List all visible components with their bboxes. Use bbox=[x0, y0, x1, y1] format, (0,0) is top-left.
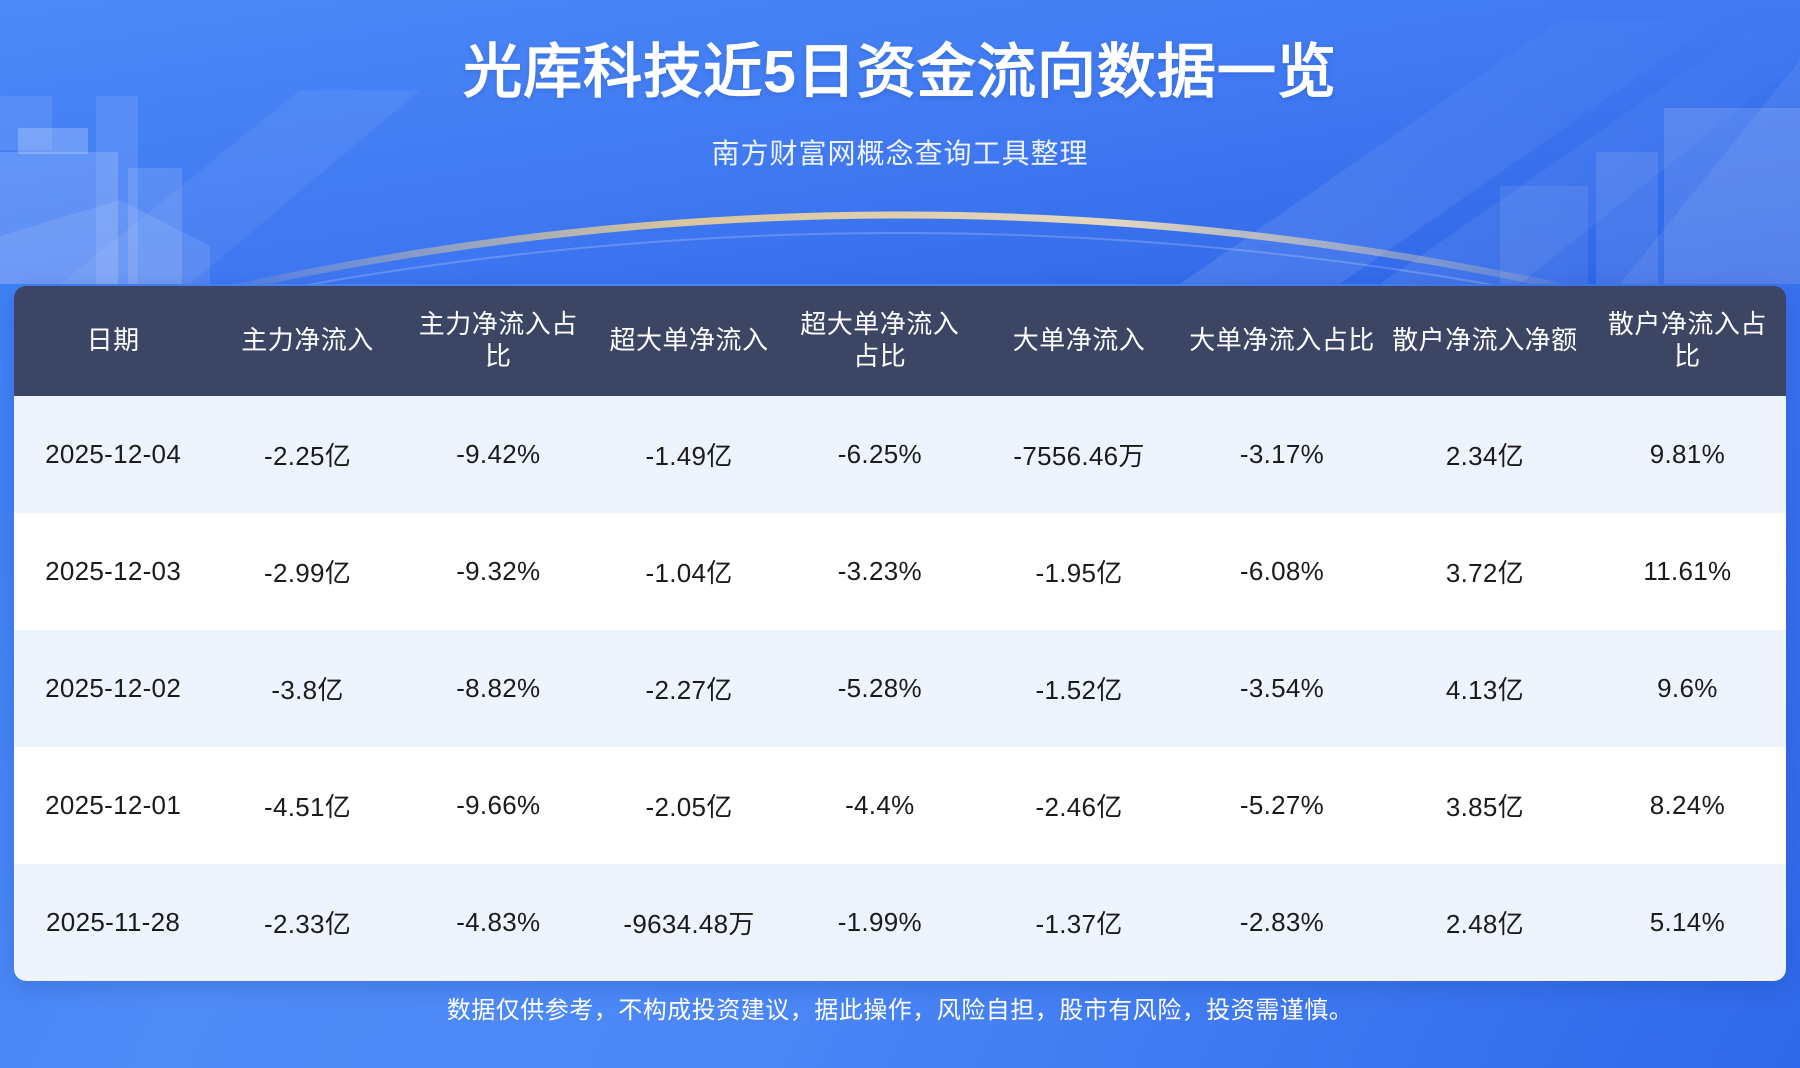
cell-main-net-inflow: -3.8亿 bbox=[212, 630, 403, 747]
cell-retail-net-inflow-ratio: 11.61% bbox=[1589, 513, 1786, 630]
table-row[interactable]: 2025-11-28 -2.33亿 -4.83% -9634.48万 -1.99… bbox=[14, 864, 1786, 981]
footer-disclaimer: 数据仅供参考，不构成投资建议，据此操作，风险自担，股市有风险，投资需谨慎。 bbox=[0, 990, 1800, 1025]
cell-retail-net-inflow-amount: 4.13亿 bbox=[1381, 630, 1589, 747]
cell-super-large-net-inflow: -1.04亿 bbox=[594, 513, 785, 630]
page-title: 光库科技近5日资金流向数据一览 bbox=[0, 38, 1800, 108]
cell-large-net-inflow: -1.37亿 bbox=[975, 864, 1183, 981]
cell-main-net-inflow: -2.99亿 bbox=[212, 513, 403, 630]
cell-large-net-inflow-ratio: -6.08% bbox=[1183, 513, 1381, 630]
cell-retail-net-inflow-ratio: 9.81% bbox=[1589, 396, 1786, 513]
column-header-super-large-net-inflow-ratio[interactable]: 超大单净流入占比 bbox=[784, 286, 975, 396]
table-row[interactable]: 2025-12-02 -3.8亿 -8.82% -2.27亿 -5.28% -1… bbox=[14, 630, 1786, 747]
column-header-large-net-inflow[interactable]: 大单净流入 bbox=[975, 286, 1183, 396]
column-header-main-net-inflow-ratio[interactable]: 主力净流入占比 bbox=[403, 286, 594, 396]
cell-retail-net-inflow-amount: 2.34亿 bbox=[1381, 396, 1589, 513]
cell-large-net-inflow-ratio: -3.17% bbox=[1183, 396, 1381, 513]
cell-retail-net-inflow-amount: 3.85亿 bbox=[1381, 747, 1589, 864]
cell-date: 2025-12-03 bbox=[14, 513, 212, 630]
page-subtitle: 南方财富网概念查询工具整理 bbox=[0, 132, 1800, 172]
table-row[interactable]: 2025-12-03 -2.99亿 -9.32% -1.04亿 -3.23% -… bbox=[14, 513, 1786, 630]
cell-retail-net-inflow-amount: 3.72亿 bbox=[1381, 513, 1589, 630]
cell-super-large-net-inflow-ratio: -3.23% bbox=[784, 513, 975, 630]
cell-date: 2025-12-04 bbox=[14, 396, 212, 513]
cell-retail-net-inflow-ratio: 8.24% bbox=[1589, 747, 1786, 864]
cell-main-net-inflow-ratio: -4.83% bbox=[403, 864, 594, 981]
cell-retail-net-inflow-ratio: 5.14% bbox=[1589, 864, 1786, 981]
cell-large-net-inflow: -1.95亿 bbox=[975, 513, 1183, 630]
column-header-retail-net-inflow-ratio[interactable]: 散户净流入占比 bbox=[1589, 286, 1786, 396]
column-header-retail-net-inflow-amount[interactable]: 散户净流入净额 bbox=[1381, 286, 1589, 396]
cell-super-large-net-inflow-ratio: -4.4% bbox=[784, 747, 975, 864]
cell-large-net-inflow-ratio: -2.83% bbox=[1183, 864, 1381, 981]
cell-super-large-net-inflow-ratio: -1.99% bbox=[784, 864, 975, 981]
cell-main-net-inflow: -2.25亿 bbox=[212, 396, 403, 513]
cell-large-net-inflow-ratio: -5.27% bbox=[1183, 747, 1381, 864]
cell-retail-net-inflow-ratio: 9.6% bbox=[1589, 630, 1786, 747]
cell-main-net-inflow-ratio: -8.82% bbox=[403, 630, 594, 747]
table-row[interactable]: 2025-12-01 -4.51亿 -9.66% -2.05亿 -4.4% -2… bbox=[14, 747, 1786, 864]
cell-date: 2025-11-28 bbox=[14, 864, 212, 981]
column-header-main-net-inflow[interactable]: 主力净流入 bbox=[212, 286, 403, 396]
cell-main-net-inflow-ratio: -9.32% bbox=[403, 513, 594, 630]
fund-flow-table: 日期 主力净流入 主力净流入占比 超大单净流入 超大单净流入占比 大单净流入 大… bbox=[14, 286, 1786, 981]
table-row[interactable]: 2025-12-04 -2.25亿 -9.42% -1.49亿 -6.25% -… bbox=[14, 396, 1786, 513]
table-header: 日期 主力净流入 主力净流入占比 超大单净流入 超大单净流入占比 大单净流入 大… bbox=[14, 286, 1786, 396]
cell-large-net-inflow: -7556.46万 bbox=[975, 396, 1183, 513]
column-header-date[interactable]: 日期 bbox=[14, 286, 212, 396]
cell-date: 2025-12-01 bbox=[14, 747, 212, 864]
cell-super-large-net-inflow: -9634.48万 bbox=[594, 864, 785, 981]
cell-large-net-inflow-ratio: -3.54% bbox=[1183, 630, 1381, 747]
data-table-card: 日期 主力净流入 主力净流入占比 超大单净流入 超大单净流入占比 大单净流入 大… bbox=[14, 286, 1786, 981]
table-body: 2025-12-04 -2.25亿 -9.42% -1.49亿 -6.25% -… bbox=[14, 396, 1786, 981]
column-header-large-net-inflow-ratio[interactable]: 大单净流入占比 bbox=[1183, 286, 1381, 396]
cell-main-net-inflow: -4.51亿 bbox=[212, 747, 403, 864]
table-header-row: 日期 主力净流入 主力净流入占比 超大单净流入 超大单净流入占比 大单净流入 大… bbox=[14, 286, 1786, 396]
page-root: 光库科技近5日资金流向数据一览 南方财富网概念查询工具整理 南方财富网 Sout… bbox=[0, 0, 1800, 1068]
cell-super-large-net-inflow-ratio: -5.28% bbox=[784, 630, 975, 747]
cell-super-large-net-inflow: -2.05亿 bbox=[594, 747, 785, 864]
cell-main-net-inflow-ratio: -9.42% bbox=[403, 396, 594, 513]
cell-super-large-net-inflow: -2.27亿 bbox=[594, 630, 785, 747]
cell-retail-net-inflow-amount: 2.48亿 bbox=[1381, 864, 1589, 981]
cell-large-net-inflow: -2.46亿 bbox=[975, 747, 1183, 864]
cell-super-large-net-inflow: -1.49亿 bbox=[594, 396, 785, 513]
cell-date: 2025-12-02 bbox=[14, 630, 212, 747]
column-header-super-large-net-inflow[interactable]: 超大单净流入 bbox=[594, 286, 785, 396]
cell-large-net-inflow: -1.52亿 bbox=[975, 630, 1183, 747]
cell-main-net-inflow-ratio: -9.66% bbox=[403, 747, 594, 864]
cell-super-large-net-inflow-ratio: -6.25% bbox=[784, 396, 975, 513]
header-block: 光库科技近5日资金流向数据一览 南方财富网概念查询工具整理 bbox=[0, 0, 1800, 172]
cell-main-net-inflow: -2.33亿 bbox=[212, 864, 403, 981]
